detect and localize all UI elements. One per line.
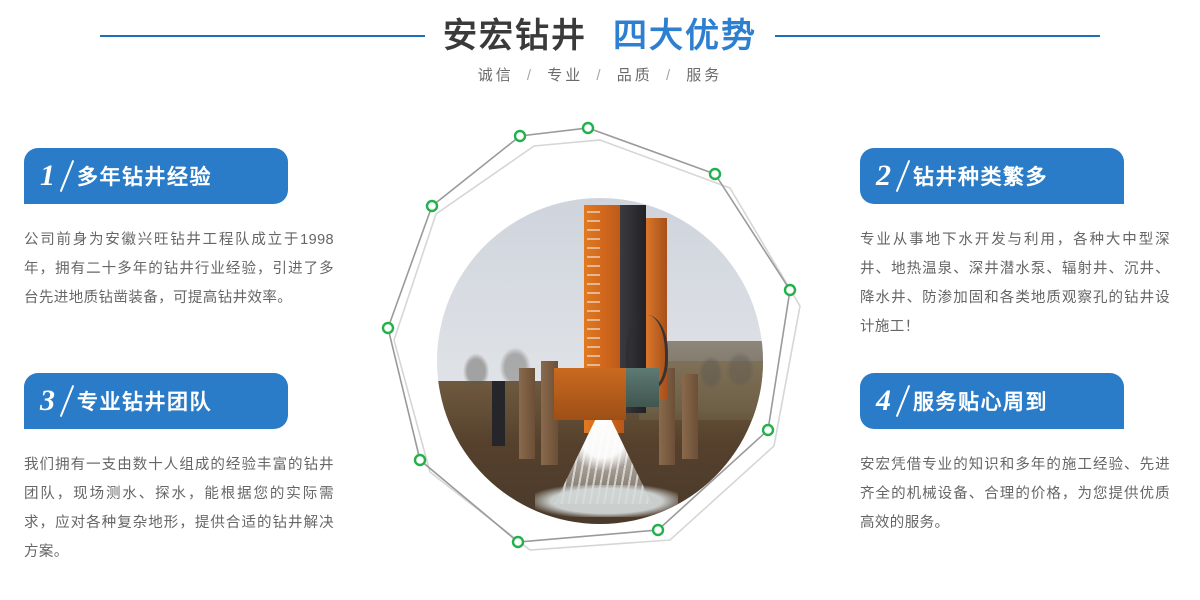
feature-badge-3[interactable]: 3 专业钻井团队 [24,373,288,429]
subtitle-item-2: 品质 [617,67,653,84]
title-rule-left [100,35,425,37]
page-subtitle: 诚信 / 专业 / 品质 / 服务 [0,64,1200,85]
photo-rig-cab [626,368,659,407]
feature-title-3: 专业钻井团队 [77,386,212,416]
feature-title-4: 服务贴心周到 [913,386,1048,416]
page-title-accent: 四大优势 [613,17,757,55]
feature-card-2: 2 钻井种类繁多 专业从事地下水开发与利用，各种大中型深井、地热温泉、深井潜水泵… [860,148,1180,342]
photo-rig-leg-1 [519,368,535,459]
advantages-infographic: 安宏钻井四大优势 诚信 / 专业 / 品质 / 服务 [0,0,1200,600]
page-title-primary: 安宏钻井 [443,17,587,55]
feature-number-2: 2 [876,161,907,191]
feature-body-1: 公司前身为安徽兴旺钻井工程队成立于1998年，拥有二十多年的钻井行业经验，引进了… [24,226,334,313]
feature-body-3: 我们拥有一支由数十人组成的经验丰富的钻井团队，现场测水、探水，能根据您的实际需求… [24,451,334,567]
feature-badge-1[interactable]: 1 多年钻井经验 [24,148,288,204]
feature-card-4: 4 服务贴心周到 安宏凭借专业的知识和多年的施工经验、先进齐全的机械设备、合理的… [860,373,1180,538]
subtitle-item-1: 专业 [547,67,583,84]
feature-number-1: 1 [40,161,71,191]
subtitle-separator-1: / [596,67,603,84]
center-graphic [370,110,830,600]
photo-rig-leg-4 [682,374,698,459]
page-title: 安宏钻井四大优势 [443,19,757,53]
subtitle-item-3: 服务 [686,67,722,84]
feature-badge-4[interactable]: 4 服务贴心周到 [860,373,1124,429]
photo-rig-body [554,368,626,420]
drilling-rig-photo [437,198,763,524]
photo-dark-pipe [492,381,505,446]
subtitle-separator-0: / [527,67,534,84]
feature-card-3: 3 专业钻井团队 我们拥有一支由数十人组成的经验丰富的钻井团队，现场测水、探水，… [24,373,344,567]
feature-number-4: 4 [876,386,907,416]
feature-title-2: 钻井种类繁多 [913,161,1048,191]
feature-card-1: 1 多年钻井经验 公司前身为安徽兴旺钻井工程队成立于1998年，拥有二十多年的钻… [24,148,344,313]
feature-body-2: 专业从事地下水开发与利用，各种大中型深井、地热温泉、深井潜水泵、辐射井、沉井、降… [860,226,1170,342]
subtitle-separator-2: / [666,67,673,84]
photo-water-puddle [535,485,678,518]
feature-badge-2[interactable]: 2 钻井种类繁多 [860,148,1124,204]
subtitle-item-0: 诚信 [478,67,514,84]
feature-number-3: 3 [40,386,71,416]
title-row: 安宏钻井四大优势 [0,12,1200,60]
feature-title-1: 多年钻井经验 [77,161,212,191]
feature-body-4: 安宏凭借专业的知识和多年的施工经验、先进齐全的机械设备、合理的价格，为您提供优质… [860,451,1170,538]
page-header: 安宏钻井四大优势 诚信 / 专业 / 品质 / 服务 [0,0,1200,110]
title-rule-right [775,35,1100,37]
